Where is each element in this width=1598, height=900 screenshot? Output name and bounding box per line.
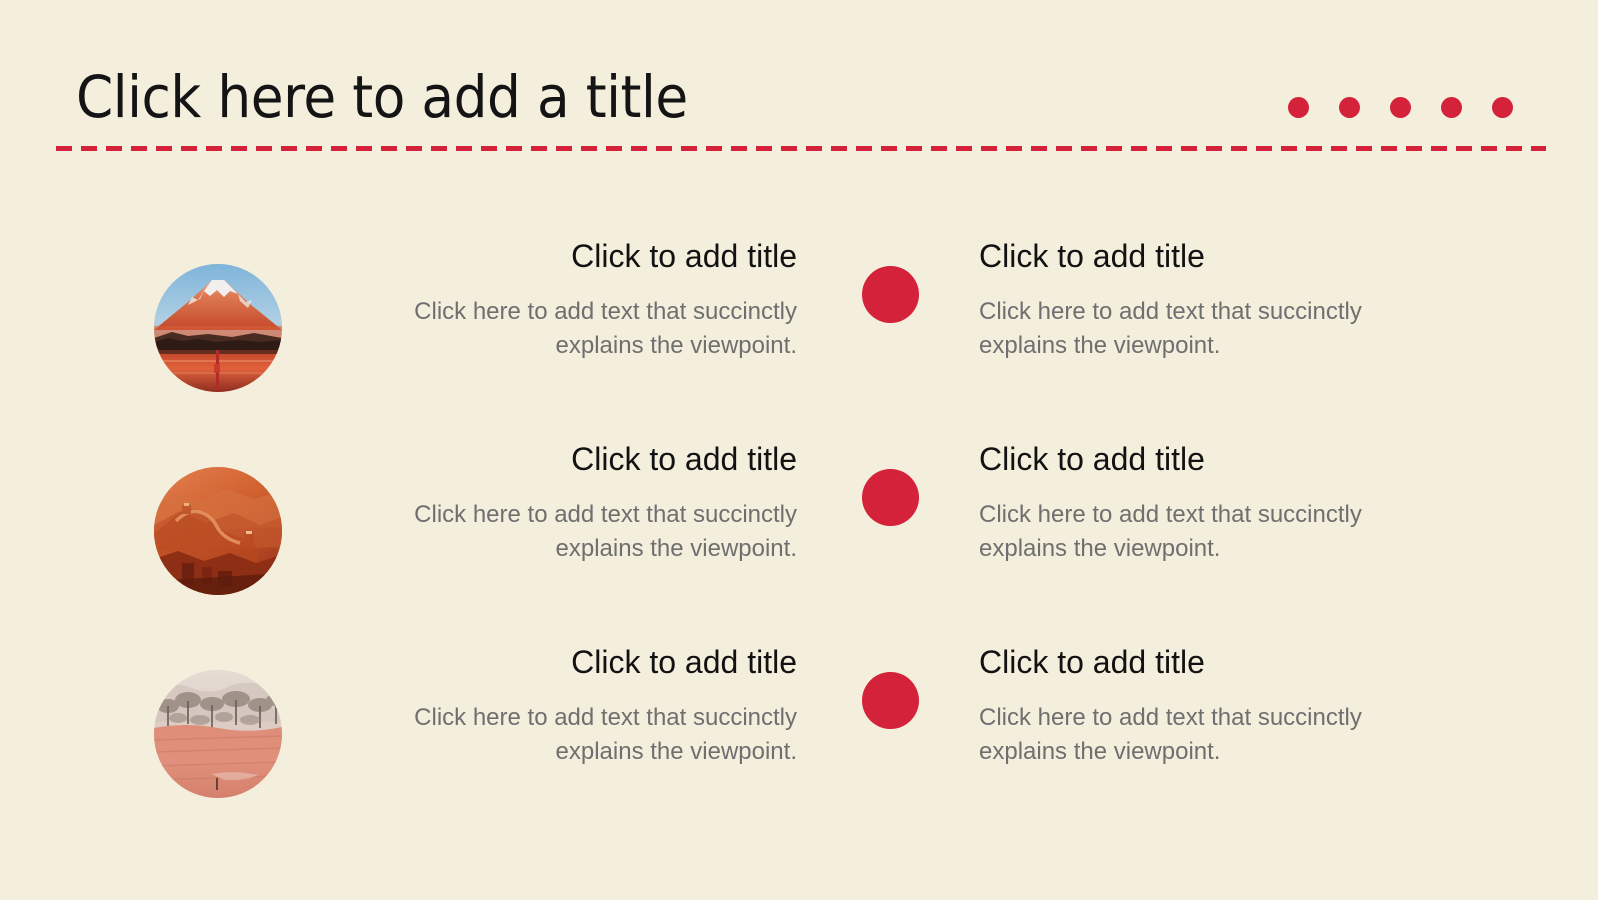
red-circle-bullet xyxy=(862,469,919,526)
header-dot-5 xyxy=(1492,97,1513,118)
header-dot-2 xyxy=(1339,97,1360,118)
item-title[interactable]: Click to add title xyxy=(367,441,797,478)
item-title[interactable]: Click to add title xyxy=(979,644,1449,681)
page-title[interactable]: Click here to add a title xyxy=(76,66,688,129)
header-dot-4 xyxy=(1441,97,1462,118)
dashed-divider xyxy=(56,146,1546,151)
item-body[interactable]: Click here to add text that succinctly e… xyxy=(367,701,797,769)
red-circle-bullet xyxy=(862,672,919,729)
item-body[interactable]: Click here to add text that succinctly e… xyxy=(979,295,1449,363)
content-row: Click to add title Click here to add tex… xyxy=(0,441,1598,621)
item-body[interactable]: Click here to add text that succinctly e… xyxy=(979,701,1449,769)
item-title[interactable]: Click to add title xyxy=(979,238,1449,275)
item-body[interactable]: Click here to add text that succinctly e… xyxy=(367,295,797,363)
header-dot-3 xyxy=(1390,97,1411,118)
right-item-text: Click to add title Click here to add tex… xyxy=(979,644,1449,769)
content-row: Click to add title Click here to add tex… xyxy=(0,238,1598,418)
red-circle-bullet xyxy=(862,266,919,323)
mount-fuji-sunset-lake-photo[interactable] xyxy=(154,264,282,392)
slide-header: Click here to add a title xyxy=(0,0,1598,165)
item-body[interactable]: Click here to add text that succinctly e… xyxy=(979,498,1449,566)
header-dot-1 xyxy=(1288,97,1309,118)
content-area: Click to add title Click here to add tex… xyxy=(0,165,1598,900)
left-item-text: Click to add title Click here to add tex… xyxy=(367,441,797,566)
item-body[interactable]: Click here to add text that succinctly e… xyxy=(367,498,797,566)
header-dot-group xyxy=(1288,97,1513,118)
item-title[interactable]: Click to add title xyxy=(367,644,797,681)
content-row: Click to add title Click here to add tex… xyxy=(0,644,1598,824)
right-item-text: Click to add title Click here to add tex… xyxy=(979,441,1449,566)
great-wall-red-mountains-photo[interactable] xyxy=(154,467,282,595)
left-item-text: Click to add title Click here to add tex… xyxy=(367,238,797,363)
item-title[interactable]: Click to add title xyxy=(367,238,797,275)
left-item-text: Click to add title Click here to add tex… xyxy=(367,644,797,769)
slide-canvas: Click here to add a title xyxy=(0,0,1598,900)
right-item-text: Click to add title Click here to add tex… xyxy=(979,238,1449,363)
item-title[interactable]: Click to add title xyxy=(979,441,1449,478)
pink-grassland-trees-photo[interactable] xyxy=(154,670,282,798)
